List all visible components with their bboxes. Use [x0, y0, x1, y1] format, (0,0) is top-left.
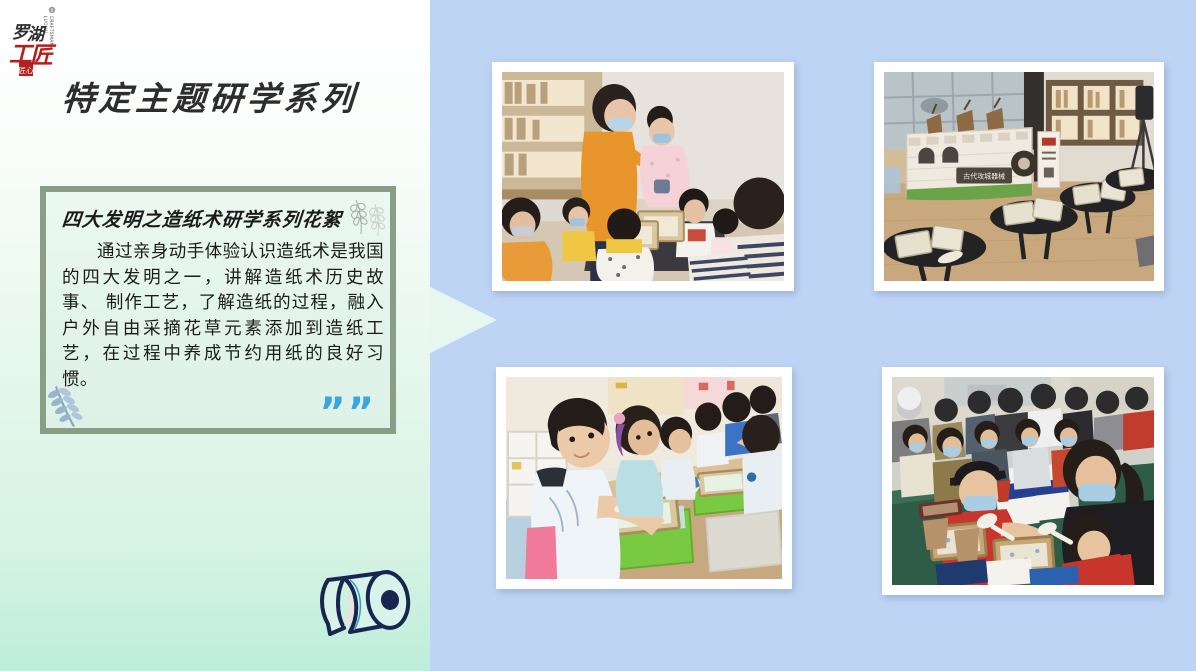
left-panel: R LUOHU CRAFTSMAN 罗 湖 工 匠 匠心 特定主题研学系列	[0, 0, 430, 671]
gallery-photo-image	[892, 377, 1154, 585]
svg-text:R: R	[51, 8, 54, 13]
slide-root: R LUOHU CRAFTSMAN 罗 湖 工 匠 匠心 特定主题研学系列	[0, 0, 1196, 671]
gallery-photo-image: 古代攻城器械	[884, 72, 1154, 281]
gallery-photo[interactable]	[492, 62, 794, 291]
svg-text:古代攻城器械: 古代攻城器械	[963, 171, 1005, 180]
luohu-craftsman-logo: R LUOHU CRAFTSMAN 罗 湖 工 匠 匠心	[8, 4, 66, 78]
page-title: 特定主题研学系列	[60, 72, 393, 120]
svg-text:匠心: 匠心	[19, 66, 34, 75]
closing-quote-mark: ””	[319, 400, 376, 426]
pointer-triangle	[430, 287, 497, 353]
gallery-photo[interactable]	[882, 367, 1164, 595]
highlight-card-body: 通过亲身动手体验认识造纸术是我国的四大发明之一，讲解造纸术历史故事、 制作工艺，…	[62, 240, 384, 393]
leaf-branch-icon	[48, 380, 96, 428]
gallery-photo[interactable]	[496, 367, 792, 589]
highlight-card-inner: 四大发明之造纸术研学系列花絮 通过亲身动手体验认识造纸术是我国的四大发明之一，讲…	[46, 192, 390, 428]
toilet-paper-roll-icon	[310, 562, 412, 646]
gallery-photo-image	[506, 377, 782, 579]
gallery-photo[interactable]: 古代攻城器械	[874, 62, 1164, 291]
svg-text:匠: 匠	[30, 42, 57, 69]
highlight-card-title: 四大发明之造纸术研学系列花絮	[61, 205, 383, 232]
gallery-photo-image	[502, 72, 784, 281]
highlight-card: 四大发明之造纸术研学系列花絮 通过亲身动手体验认识造纸术是我国的四大发明之一，讲…	[40, 186, 396, 434]
